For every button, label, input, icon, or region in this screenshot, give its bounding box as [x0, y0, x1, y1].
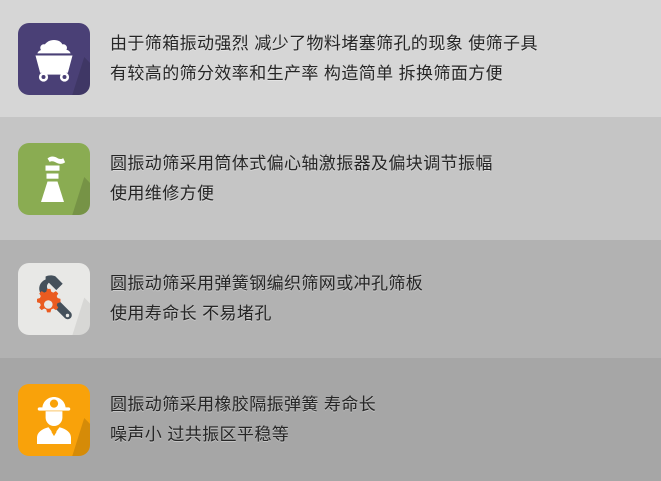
feature-row-2[interactable]: 圆振动筛采用筒体式偏心轴激振器及偏块调节振幅 使用维修方便 — [0, 117, 661, 240]
mine-cart-icon — [18, 23, 90, 95]
factory-chimney-icon — [18, 143, 90, 215]
wrench-gear-glyph — [18, 263, 90, 335]
feature-list-panel: 由于筛箱振动强烈 减少了物料堵塞筛孔的现象 使筛子具 有较高的筛分效率和生产率 … — [0, 0, 661, 481]
feature-row-4[interactable]: 圆振动筛采用橡胶隔振弹簧 寿命长 噪声小 过共振区平稳等 — [0, 358, 661, 481]
mine-cart-glyph — [18, 23, 90, 95]
feature-line-1b: 有较高的筛分效率和生产率 构造简单 拆换筛面方便 — [110, 59, 661, 89]
feature-line-1a: 由于筛箱振动强烈 减少了物料堵塞筛孔的现象 使筛子具 — [110, 29, 661, 59]
feature-line-2a: 圆振动筛采用筒体式偏心轴激振器及偏块调节振幅 — [110, 149, 661, 179]
factory-chimney-glyph — [18, 143, 90, 215]
feature-row-3[interactable]: 圆振动筛采用弹簧钢编织筛网或冲孔筛板 使用寿命长 不易堵孔 — [0, 240, 661, 358]
miner-worker-glyph — [18, 384, 90, 456]
feature-text-2: 圆振动筛采用筒体式偏心轴激振器及偏块调节振幅 使用维修方便 — [110, 149, 661, 209]
feature-line-4b: 噪声小 过共振区平稳等 — [110, 420, 661, 450]
feature-line-3b: 使用寿命长 不易堵孔 — [110, 299, 661, 329]
feature-line-4a: 圆振动筛采用橡胶隔振弹簧 寿命长 — [110, 390, 661, 420]
feature-line-2b: 使用维修方便 — [110, 179, 661, 209]
feature-row-1[interactable]: 由于筛箱振动强烈 减少了物料堵塞筛孔的现象 使筛子具 有较高的筛分效率和生产率 … — [0, 0, 661, 117]
feature-line-3a: 圆振动筛采用弹簧钢编织筛网或冲孔筛板 — [110, 269, 661, 299]
miner-worker-icon — [18, 384, 90, 456]
feature-text-3: 圆振动筛采用弹簧钢编织筛网或冲孔筛板 使用寿命长 不易堵孔 — [110, 269, 661, 329]
wrench-gear-icon — [18, 263, 90, 335]
gear-shape — [37, 289, 60, 312]
feature-text-4: 圆振动筛采用橡胶隔振弹簧 寿命长 噪声小 过共振区平稳等 — [110, 390, 661, 450]
feature-text-1: 由于筛箱振动强烈 减少了物料堵塞筛孔的现象 使筛子具 有较高的筛分效率和生产率 … — [110, 29, 661, 89]
